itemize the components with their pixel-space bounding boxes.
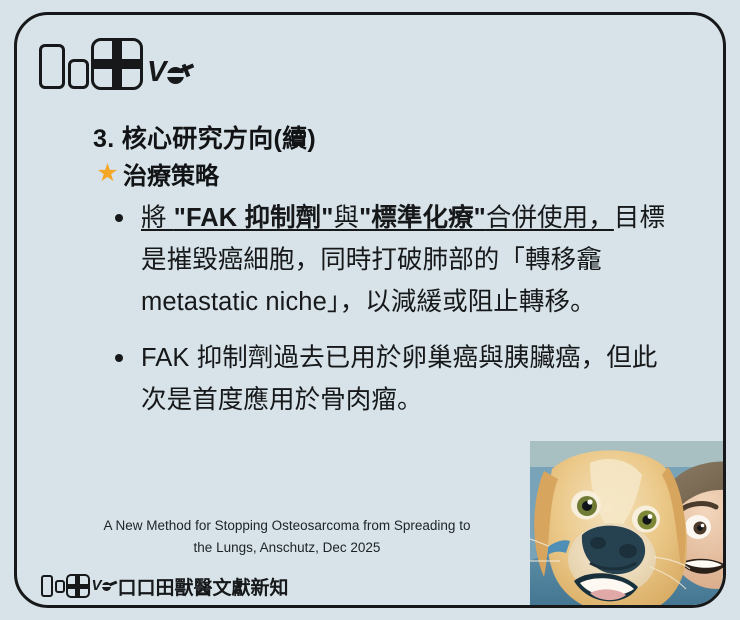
- logo-bar-short-icon: [68, 59, 89, 89]
- bullet-text-segment: 合併使用，: [486, 204, 614, 232]
- star-icon: ★: [95, 161, 120, 186]
- vet-literature-logo: V: [39, 35, 195, 89]
- bottom-logo-cross-icon: [66, 574, 90, 598]
- bullet-text-segment: 將: [141, 204, 174, 232]
- slide-root: V 3. 核心研究方向(續) ★ 治療策略 將 "FAK 抑制劑"與"標準化療"…: [0, 0, 740, 620]
- bottom-brand: V 口口田獸醫文獻新知: [41, 571, 289, 601]
- bullet-text-segment: 與: [333, 204, 359, 232]
- bottom-logo-vet-letter: V: [92, 578, 102, 593]
- list-item: FAK 抑制劑過去已用於卵巢癌與胰臟癌，但此次是首度應用於骨肉瘤。: [109, 337, 677, 421]
- bottom-logo-bar-short-icon: [55, 580, 65, 593]
- citation-line-1: A New Method for Stopping Osteosarcoma f…: [57, 515, 517, 537]
- bullet-text-segment: "標準化療": [359, 204, 486, 232]
- bullet-list: 將 "FAK 抑制劑"與"標準化療"合併使用，目標是摧毀癌細胞，同時打破肺部的「…: [109, 197, 677, 435]
- citation-line-2: the Lungs, Anschutz, Dec 2025: [57, 537, 517, 559]
- bullet-text-segment: "FAK 抑制劑": [174, 204, 334, 232]
- list-item: 將 "FAK 抑制劑"與"標準化療"合併使用，目標是摧毀癌細胞，同時打破肺部的「…: [109, 197, 677, 323]
- slide-frame: V 3. 核心研究方向(續) ★ 治療策略 將 "FAK 抑制劑"與"標準化療"…: [14, 12, 726, 608]
- bottom-logo-bar-tall-icon: [41, 575, 53, 597]
- logo-vet-mark-icon: V: [147, 58, 195, 88]
- citation: A New Method for Stopping Osteosarcoma f…: [57, 515, 517, 559]
- bottom-brand-label: 口口田獸醫文獻新知: [118, 573, 289, 600]
- logo-vet-letter: V: [147, 58, 166, 87]
- section-subtitle: ★ 治療策略: [95, 156, 219, 191]
- logo-bar-tall-icon: [39, 44, 65, 89]
- bullet-text-segment: FAK 抑制劑過去已用於卵巢癌與胰臟癌，但此次是首度應用於骨肉瘤。: [141, 344, 657, 414]
- bottom-logo-vet-mark-icon: V: [92, 578, 116, 594]
- dog-and-person-illustration: [530, 441, 726, 608]
- section-subtitle-label: 治療策略: [123, 156, 219, 191]
- logo-cross-icon: [91, 38, 143, 90]
- page-title: 3. 核心研究方向(續): [93, 119, 316, 155]
